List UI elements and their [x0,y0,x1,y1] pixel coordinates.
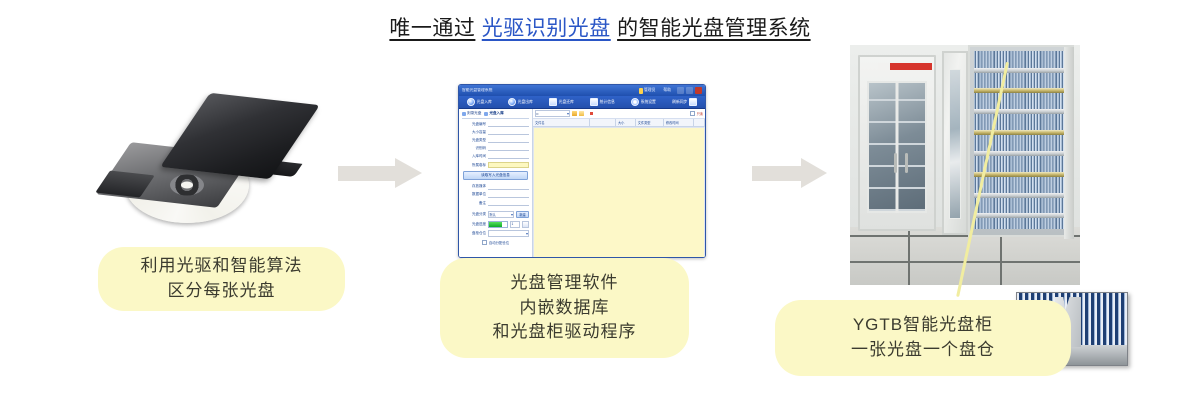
tab-burn-disc[interactable]: 刻录光盘 [462,111,481,116]
field-label-slot: 盘柜仓位 [462,231,486,236]
field-label-capacity: 大小容量 [462,130,486,135]
field-input-remark[interactable] [488,200,529,206]
field-row: 备注 [462,200,529,206]
field-input-disc-type[interactable] [488,138,529,144]
field-row: 识别码 [462,146,529,152]
arrow-drive-to-software-icon [338,155,438,191]
toolbar-disc-return[interactable]: 光盘还库 [541,98,582,106]
arrow-head [801,158,827,188]
open-glass-door [942,51,968,235]
field-label-intake-time: 入库时间 [462,154,486,159]
software-window-title: 智能光盘管理系统 [462,88,637,93]
progress-row: 光盘进度 1 [462,221,529,228]
disc-center-hole [181,182,193,189]
slot-select[interactable] [488,230,529,237]
toolbar-settings-label: 系统设置 [641,100,656,105]
column-filetype[interactable]: 文件类型 [636,119,664,126]
new-category-button[interactable]: 新建 [516,211,529,219]
drive-path-value: F: [537,112,540,116]
field-input-identifier[interactable] [488,146,529,152]
bubble-line: 区分每张光盘 [168,279,276,304]
field-input-intake-time[interactable] [488,154,529,160]
field-row: 光盘编号 [462,122,529,128]
file-list-header: 文件名 大小 文件类型 修改时间 [533,119,705,127]
folder-open-icon[interactable] [579,111,584,116]
page-title: 唯一通过 光驱识别光盘 的智能光盘管理系统 [0,12,1200,42]
disc-in-icon [467,98,475,106]
read-write-disc-info-button[interactable]: 读取写入光盘信息 [463,171,528,180]
cabinet-right-frame [1064,47,1074,239]
disc-form-panel: 刻录光盘 光盘入库 光盘编号 大小容量 光盘类型 [459,109,533,258]
adjacent-cabinet [858,55,936,231]
toolbar-refresh-label: 刷新同步 [672,100,687,105]
title-prefix: 唯一通过 [389,17,475,40]
drive-path-select[interactable]: F: [535,110,570,118]
disc-cabinet-photo [850,45,1080,285]
door-glass-pane [949,69,961,219]
field-row: 所属卷标 [462,162,529,169]
slot-row: 盘柜仓位 [462,230,529,237]
file-list-area[interactable] [533,127,705,258]
field-label-data-unit: 数据单位 [462,192,486,197]
bubble-line: YGTB智能光盘柜 [853,313,993,338]
minimize-button[interactable] [677,87,684,94]
title-highlight: 光驱识别光盘 [482,17,611,40]
callout-bubble-drive: 利用光驱和智能算法 区分每张光盘 [98,247,345,311]
arrow-shaft [752,166,802,181]
toolbar-disc-out[interactable]: 光盘出库 [500,98,541,106]
disc-slot-array [974,51,1068,229]
slide-canvas: 唯一通过 光驱识别光盘 的智能光盘管理系统 智能光盘管理系统 管理员 帮助 [0,0,1200,400]
field-row: 大小容量 [462,130,529,136]
bubble-line: 光盘管理软件 [511,271,619,296]
field-label-disc-type: 光盘类型 [462,138,486,143]
user-name: 管理员 [644,88,655,93]
disc-out-icon [508,98,516,106]
readonly-option[interactable]: 只读 [690,111,703,117]
gear-icon [631,98,639,106]
field-label-disc-id: 光盘编号 [462,122,486,127]
chevron-down-icon [567,113,569,115]
arrow-software-to-cabinet-icon [752,155,852,191]
bubble-line: 内嵌数据库 [520,296,610,321]
field-input-media[interactable] [488,184,529,190]
field-label-remark: 备注 [462,201,486,206]
bubble-line: 利用光驱和智能算法 [141,254,303,279]
column-filename[interactable]: 文件名 [533,119,590,126]
burn-icon [462,112,466,116]
checkbox-box [482,240,488,246]
door-divider [896,81,899,213]
bubble-line: 和光盘柜驱动程序 [493,320,637,345]
category-select-value: 默认 [490,212,496,217]
file-browser-panel: F: 只读 文件名 大小 文件类型 修改时间 [533,109,705,258]
field-label-progress: 光盘进度 [462,222,486,227]
help-menu[interactable]: 帮助 [663,88,671,93]
maximize-button[interactable] [686,87,693,94]
toolbar-stats-label: 统计信息 [600,100,615,105]
spinner-stepper[interactable] [522,221,529,228]
callout-bubble-software: 光盘管理软件 内嵌数据库 和光盘柜驱动程序 [440,258,689,358]
toolbar-disc-in[interactable]: 光盘入库 [459,98,500,106]
stats-icon [590,98,598,106]
close-button[interactable] [695,87,702,94]
category-row: 光盘分类 默认 新建 [462,211,529,219]
readonly-label: 只读 [697,111,703,116]
auto-assign-label: 自动分配仓位 [489,240,509,245]
tab-disc-in[interactable]: 光盘入库 [484,111,503,116]
door-handle [905,153,908,173]
toolbar-disc-in-label: 光盘入库 [477,100,492,105]
field-input-data-unit[interactable] [488,192,529,198]
disc-progress-bar [488,221,508,228]
chevron-down-icon [511,214,513,216]
software-screenshot: 智能光盘管理系统 管理员 帮助 光盘入库 光盘出库 光盘还库 [458,84,706,258]
folder-icon[interactable] [572,111,577,116]
column-blank[interactable] [590,119,616,126]
field-label-identifier: 识别码 [462,146,486,151]
user-icon [639,88,643,94]
field-row: 数据单位 [462,192,529,198]
user-indicator: 管理员 [639,88,656,94]
progress-count-value: 1 [512,222,514,226]
bubble-line: 一张光盘一个盘仓 [851,338,995,363]
panel-tabs: 刻录光盘 光盘入库 [462,111,529,119]
arrow-shaft [338,166,396,181]
cabinet-label [878,63,932,70]
file-browser-toolbar: F: 只读 [533,109,705,119]
progress-count-input[interactable]: 1 [510,221,520,228]
field-label-media: 存放媒体 [462,184,486,189]
field-row: 入库时间 [462,154,529,160]
software-title-bar: 智能光盘管理系统 管理员 帮助 [459,85,705,96]
column-extra[interactable] [694,119,705,126]
field-row: 存放媒体 [462,184,529,190]
toolbar-stats[interactable]: 统计信息 [582,98,623,106]
auto-assign-checkbox[interactable]: 自动分配仓位 [462,240,529,246]
disc-return-icon [549,98,557,106]
arrow-head [395,158,422,188]
category-select[interactable]: 默认 [488,211,514,218]
title-suffix: 的智能光盘管理系统 [617,17,811,40]
checkbox-box [690,111,696,117]
field-input-volume[interactable] [488,162,529,169]
field-label-volume: 所属卷标 [462,163,486,168]
tab-disc-in-label: 光盘入库 [489,111,503,116]
toolbar-settings[interactable]: 系统设置 [623,98,664,106]
toolbar-disc-out-label: 光盘出库 [518,100,533,105]
refresh-icon [689,98,697,106]
toolbar-refresh[interactable]: 刷新同步 [664,98,705,106]
main-cabinet-body [968,45,1074,237]
disc-in-tab-icon [484,112,488,116]
field-input-capacity[interactable] [488,130,529,136]
optical-drive-photo [95,95,310,235]
stop-icon[interactable] [590,112,593,115]
tab-burn-disc-label: 刻录光盘 [467,111,481,116]
field-label-category: 光盘分类 [462,212,486,217]
column-modified[interactable]: 修改时间 [664,119,694,126]
column-size[interactable]: 大小 [616,119,636,126]
software-body: 刻录光盘 光盘入库 光盘编号 大小容量 光盘类型 [459,109,705,258]
software-toolbar: 光盘入库 光盘出库 光盘还库 统计信息 系统设置 刷新同步 [459,96,705,109]
field-row: 光盘类型 [462,138,529,144]
callout-bubble-cabinet: YGTB智能光盘柜 一张光盘一个盘仓 [775,300,1071,376]
toolbar-disc-return-label: 光盘还库 [559,100,574,105]
field-input-disc-id[interactable] [488,122,529,128]
chevron-down-icon [526,233,528,235]
door-handle [894,153,897,173]
